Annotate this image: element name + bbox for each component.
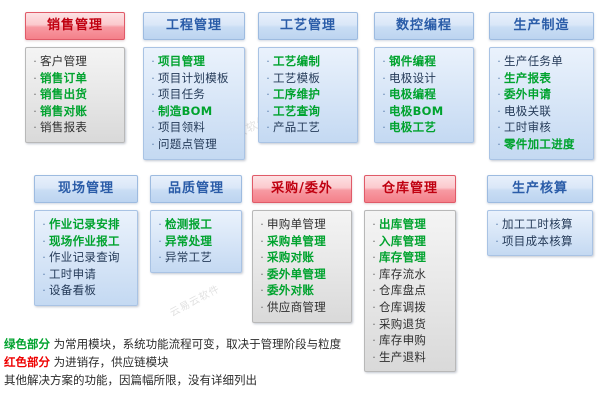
- bullet-icon: ·: [263, 71, 273, 87]
- module-item-label: 加工工时核算: [502, 216, 573, 232]
- module-item[interactable]: ·工时审核: [494, 119, 587, 136]
- bullet-icon: ·: [257, 267, 267, 283]
- module-item-label: 电极BOM: [389, 103, 444, 119]
- bullet-icon: ·: [379, 54, 389, 70]
- module-item[interactable]: ·电极设计: [379, 70, 467, 87]
- module-item-label: 生产任务单: [504, 53, 563, 69]
- module-item[interactable]: ·设备看板: [39, 282, 131, 299]
- module-item-label: 电极设计: [389, 70, 436, 86]
- module-item-label: 供应商管理: [267, 299, 326, 315]
- module-item[interactable]: ·项目任务: [148, 86, 238, 103]
- module-item[interactable]: ·采购对账: [257, 249, 345, 266]
- module-item-list: ·作业记录安排·现场作业报工·作业记录查询·工时申请·设备看板: [34, 210, 138, 306]
- bullet-icon: ·: [155, 217, 165, 233]
- module-item[interactable]: ·现场作业报工: [39, 233, 131, 250]
- bullet-icon: ·: [257, 283, 267, 299]
- module-item-list: ·加工工时核算·项目成本核算: [487, 210, 593, 256]
- module-item[interactable]: ·生产报表: [494, 70, 587, 87]
- module-item[interactable]: ·产品工艺: [263, 119, 351, 136]
- module-item-label: 项目成本核算: [502, 233, 573, 249]
- module-item[interactable]: ·零件加工进度: [494, 136, 587, 153]
- bullet-icon: ·: [263, 120, 273, 136]
- module-item-label: 仓库盘点: [379, 282, 426, 298]
- bullet-icon: ·: [39, 234, 49, 250]
- module-item[interactable]: ·入库管理: [369, 233, 449, 250]
- module-item-label: 生产报表: [504, 70, 551, 86]
- module-item[interactable]: ·出库管理: [369, 216, 449, 233]
- module-item-label: 制造BOM: [158, 103, 213, 119]
- legend: 绿色部分 为常用模块，系统功能流程可变，取决于管理阶段与粒度 红色部分 为进销存…: [4, 336, 341, 389]
- module-item-label: 库存申购: [379, 332, 426, 348]
- module-item-list: ·生产任务单·生产报表·委外申请·电极关联·工时审核·零件加工进度: [489, 47, 594, 160]
- bullet-icon: ·: [155, 234, 165, 250]
- module-item[interactable]: ·仓库调拨: [369, 299, 449, 316]
- module-item[interactable]: ·工艺编制: [263, 53, 351, 70]
- module-item-list: ·钢件编程·电极设计·电极编程·电极BOM·电极工艺: [374, 47, 474, 143]
- module-item-label: 产品工艺: [273, 119, 320, 135]
- module-item[interactable]: ·项目成本核算: [492, 233, 586, 250]
- legend-key-red: 红色部分: [4, 355, 50, 369]
- module-item-label: 设备看板: [49, 282, 96, 298]
- module-item-label: 电极关联: [504, 103, 551, 119]
- module-item-label: 项目管理: [158, 53, 205, 69]
- bullet-icon: ·: [369, 333, 379, 349]
- module-header[interactable]: 销售管理: [25, 12, 125, 40]
- bullet-icon: ·: [30, 54, 40, 70]
- bullet-icon: ·: [30, 104, 40, 120]
- module-column: 工程管理·项目管理·项目计划模板·项目任务·制造BOM·项目领料·问题点管理: [143, 12, 245, 160]
- module-item[interactable]: ·库存管理: [369, 249, 449, 266]
- bullet-icon: ·: [494, 54, 504, 70]
- module-item-label: 客户管理: [40, 53, 87, 69]
- bullet-icon: ·: [494, 137, 504, 153]
- module-header[interactable]: 工艺管理: [258, 12, 358, 40]
- module-item[interactable]: ·电极BOM: [379, 103, 467, 120]
- module-item-label: 销售订单: [40, 70, 87, 86]
- bullet-icon: ·: [369, 217, 379, 233]
- bullet-icon: ·: [369, 300, 379, 316]
- legend-key-green: 绿色部分: [4, 337, 50, 351]
- bullet-icon: ·: [369, 283, 379, 299]
- module-column: 仓库管理·出库管理·入库管理·库存管理·库存流水·仓库盘点·仓库调拨·采购退货·…: [364, 175, 456, 372]
- module-item-label: 工序维护: [273, 86, 320, 102]
- module-item[interactable]: ·异常工艺: [155, 249, 235, 266]
- bullet-icon: ·: [148, 120, 158, 136]
- module-item-label: 项目任务: [158, 86, 205, 102]
- module-item-label: 零件加工进度: [504, 136, 575, 152]
- module-item[interactable]: ·库存申购: [369, 332, 449, 349]
- module-header[interactable]: 生产制造: [489, 12, 594, 40]
- module-item-label: 申购单管理: [267, 216, 326, 232]
- module-item-label: 钢件编程: [389, 53, 436, 69]
- bullet-icon: ·: [30, 120, 40, 136]
- module-item-label: 作业记录安排: [49, 216, 120, 232]
- module-column: 生产核算·加工工时核算·项目成本核算: [487, 175, 593, 256]
- module-column: 生产制造·生产任务单·生产报表·委外申请·电极关联·工时审核·零件加工进度: [489, 12, 594, 160]
- module-item-label: 异常处理: [165, 233, 212, 249]
- legend-text-red: 为进销存，供应链模块: [54, 355, 169, 369]
- module-header[interactable]: 仓库管理: [364, 175, 456, 203]
- bullet-icon: ·: [369, 350, 379, 366]
- module-item-label: 问题点管理: [158, 136, 217, 152]
- module-diagram-board: 云易云软件 云易云软件 销售管理·客户管理·销售订单·销售出货·销售对账·销售报…: [0, 0, 600, 400]
- module-item[interactable]: ·问题点管理: [148, 136, 238, 153]
- module-item-label: 委外申请: [504, 86, 551, 102]
- module-item-label: 工时申请: [49, 266, 96, 282]
- bullet-icon: ·: [379, 104, 389, 120]
- module-item-label: 采购退货: [379, 316, 426, 332]
- bullet-icon: ·: [494, 104, 504, 120]
- module-item-label: 工艺查询: [273, 103, 320, 119]
- module-item[interactable]: ·申购单管理: [257, 216, 345, 233]
- module-item[interactable]: ·委外申请: [494, 86, 587, 103]
- module-item-list: ·检测报工·异常处理·异常工艺: [150, 210, 242, 273]
- bullet-icon: ·: [263, 87, 273, 103]
- module-item[interactable]: ·工艺模板: [263, 70, 351, 87]
- module-item[interactable]: ·钢件编程: [379, 53, 467, 70]
- module-item-label: 项目领料: [158, 119, 205, 135]
- module-item[interactable]: ·电极工艺: [379, 119, 467, 136]
- bullet-icon: ·: [492, 217, 502, 233]
- module-item[interactable]: ·生产退料: [369, 349, 449, 366]
- module-item-label: 销售出货: [40, 86, 87, 102]
- module-item[interactable]: ·检测报工: [155, 216, 235, 233]
- bullet-icon: ·: [494, 87, 504, 103]
- module-header[interactable]: 现场管理: [34, 175, 138, 203]
- legend-line-red: 红色部分 为进销存，供应链模块: [4, 354, 341, 372]
- module-item[interactable]: ·项目管理: [148, 53, 238, 70]
- module-item-list: ·客户管理·销售订单·销售出货·销售对账·销售报表: [25, 47, 125, 143]
- module-item[interactable]: ·销售出货: [30, 86, 118, 103]
- module-item[interactable]: ·销售对账: [30, 103, 118, 120]
- bullet-icon: ·: [39, 250, 49, 266]
- module-item[interactable]: ·工序维护: [263, 86, 351, 103]
- module-item-label: 工艺模板: [273, 70, 320, 86]
- bullet-icon: ·: [257, 300, 267, 316]
- module-item[interactable]: ·采购单管理: [257, 233, 345, 250]
- watermark-text-secondary: 云易云软件: [166, 280, 222, 319]
- bullet-icon: ·: [148, 87, 158, 103]
- module-item[interactable]: ·作业记录查询: [39, 249, 131, 266]
- bullet-icon: ·: [492, 234, 502, 250]
- module-item-label: 作业记录查询: [49, 249, 120, 265]
- module-header[interactable]: 生产核算: [487, 175, 593, 203]
- bullet-icon: ·: [369, 317, 379, 333]
- bullet-icon: ·: [494, 120, 504, 136]
- module-item-label: 生产退料: [379, 349, 426, 365]
- bullet-icon: ·: [369, 234, 379, 250]
- module-item[interactable]: ·供应商管理: [257, 299, 345, 316]
- bullet-icon: ·: [30, 71, 40, 87]
- bullet-icon: ·: [148, 71, 158, 87]
- module-item-label: 异常工艺: [165, 249, 212, 265]
- module-item[interactable]: ·库存流水: [369, 266, 449, 283]
- module-item-label: 委外对账: [267, 282, 314, 298]
- module-column: 现场管理·作业记录安排·现场作业报工·作业记录查询·工时申请·设备看板: [34, 175, 138, 306]
- module-item[interactable]: ·异常处理: [155, 233, 235, 250]
- module-item[interactable]: ·电极编程: [379, 86, 467, 103]
- module-item-label: 电极工艺: [389, 119, 436, 135]
- module-item-label: 工时审核: [504, 119, 551, 135]
- bullet-icon: ·: [30, 87, 40, 103]
- bullet-icon: ·: [257, 250, 267, 266]
- module-item-label: 采购对账: [267, 249, 314, 265]
- bullet-icon: ·: [369, 267, 379, 283]
- legend-text-green: 为常用模块，系统功能流程可变，取决于管理阶段与粒度: [54, 337, 342, 351]
- bullet-icon: ·: [379, 71, 389, 87]
- module-item[interactable]: ·工艺查询: [263, 103, 351, 120]
- bullet-icon: ·: [148, 54, 158, 70]
- module-item-label: 检测报工: [165, 216, 212, 232]
- bullet-icon: ·: [257, 217, 267, 233]
- module-item[interactable]: ·制造BOM: [148, 103, 238, 120]
- module-item[interactable]: ·仓库盘点: [369, 282, 449, 299]
- module-item[interactable]: ·作业记录安排: [39, 216, 131, 233]
- module-item-label: 出库管理: [379, 216, 426, 232]
- module-column: 采购/委外·申购单管理·采购单管理·采购对账·委外单管理·委外对账·供应商管理: [252, 175, 352, 323]
- bullet-icon: ·: [39, 217, 49, 233]
- bullet-icon: ·: [257, 234, 267, 250]
- module-item[interactable]: ·委外单管理: [257, 266, 345, 283]
- module-item-label: 委外单管理: [267, 266, 326, 282]
- module-item[interactable]: ·项目计划模板: [148, 70, 238, 87]
- module-column: 品质管理·检测报工·异常处理·异常工艺: [150, 175, 242, 273]
- module-item-label: 采购单管理: [267, 233, 326, 249]
- module-column: 数控编程·钢件编程·电极设计·电极编程·电极BOM·电极工艺: [374, 12, 474, 143]
- bullet-icon: ·: [263, 104, 273, 120]
- bullet-icon: ·: [369, 250, 379, 266]
- bullet-icon: ·: [39, 283, 49, 299]
- module-header[interactable]: 采购/委外: [252, 175, 352, 203]
- module-item-label: 入库管理: [379, 233, 426, 249]
- module-item[interactable]: ·加工工时核算: [492, 216, 586, 233]
- module-item-list: ·申购单管理·采购单管理·采购对账·委外单管理·委外对账·供应商管理: [252, 210, 352, 323]
- module-item-label: 销售报表: [40, 119, 87, 135]
- module-item[interactable]: ·工时申请: [39, 266, 131, 283]
- module-item-label: 库存管理: [379, 249, 426, 265]
- bullet-icon: ·: [494, 71, 504, 87]
- bullet-icon: ·: [148, 137, 158, 153]
- module-column: 工艺管理·工艺编制·工艺模板·工序维护·工艺查询·产品工艺: [258, 12, 358, 143]
- legend-line-green: 绿色部分 为常用模块，系统功能流程可变，取决于管理阶段与粒度: [4, 336, 341, 354]
- legend-line-note: 其他解决方案的功能，因篇幅所限，没有详细列出: [4, 372, 341, 390]
- module-item[interactable]: ·生产任务单: [494, 53, 587, 70]
- module-item-list: ·工艺编制·工艺模板·工序维护·工艺查询·产品工艺: [258, 47, 358, 143]
- bullet-icon: ·: [379, 120, 389, 136]
- module-item[interactable]: ·客户管理: [30, 53, 118, 70]
- bullet-icon: ·: [155, 250, 165, 266]
- module-item-list: ·出库管理·入库管理·库存管理·库存流水·仓库盘点·仓库调拨·采购退货·库存申购…: [364, 210, 456, 372]
- module-header[interactable]: 品质管理: [150, 175, 242, 203]
- module-header[interactable]: 工程管理: [143, 12, 245, 40]
- bullet-icon: ·: [379, 87, 389, 103]
- module-header[interactable]: 数控编程: [374, 12, 474, 40]
- module-item[interactable]: ·采购退货: [369, 316, 449, 333]
- module-column: 销售管理·客户管理·销售订单·销售出货·销售对账·销售报表: [25, 12, 125, 143]
- module-item-list: ·项目管理·项目计划模板·项目任务·制造BOM·项目领料·问题点管理: [143, 47, 245, 160]
- bullet-icon: ·: [263, 54, 273, 70]
- module-item-label: 工艺编制: [273, 53, 320, 69]
- module-item[interactable]: ·销售报表: [30, 119, 118, 136]
- module-item[interactable]: ·项目领料: [148, 119, 238, 136]
- bullet-icon: ·: [148, 104, 158, 120]
- module-item-label: 项目计划模板: [158, 70, 229, 86]
- module-item[interactable]: ·电极关联: [494, 103, 587, 120]
- module-item-label: 销售对账: [40, 103, 87, 119]
- module-item[interactable]: ·委外对账: [257, 282, 345, 299]
- module-item[interactable]: ·销售订单: [30, 70, 118, 87]
- bullet-icon: ·: [39, 267, 49, 283]
- module-item-label: 现场作业报工: [49, 233, 120, 249]
- module-item-label: 仓库调拨: [379, 299, 426, 315]
- module-item-label: 库存流水: [379, 266, 426, 282]
- module-item-label: 电极编程: [389, 86, 436, 102]
